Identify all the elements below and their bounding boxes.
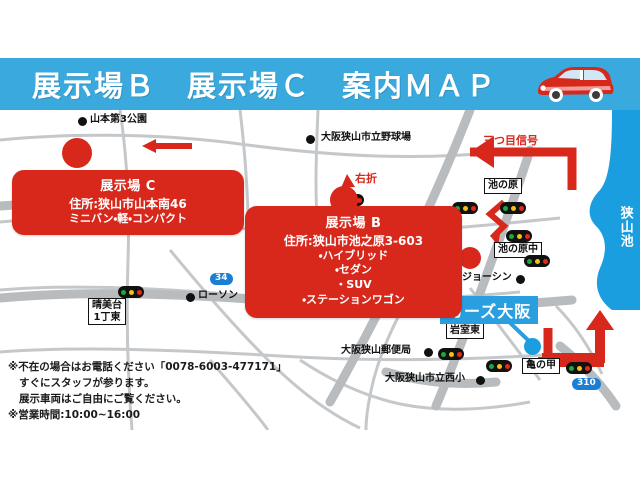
annotation-turn-right: 右折 (355, 170, 377, 186)
page-title: 展示場Ｂ 展示場Ｃ 案内ＭＡＰ (32, 63, 497, 105)
traffic-signal-icon (438, 348, 464, 360)
footnote-line: すぐにスタッフが参ります。 (8, 376, 338, 392)
footnote-line: 展示車両はご自由にご覧ください。 (8, 392, 338, 408)
intersection-label-harumidai: 晴美台1丁東 (88, 298, 126, 325)
route-arrow-west (142, 139, 192, 153)
showroom-b-item: ・SUV (251, 278, 456, 293)
showroom-b-address: 住所:狭山市池之原3-603 (251, 233, 456, 249)
showroom-c-marker (62, 138, 92, 168)
traffic-signal-icon (566, 362, 592, 374)
intersection-label-iwamuro-higashi: 岩室東 (446, 323, 484, 339)
dealer-location-dot (524, 338, 541, 355)
red-car-icon (532, 62, 618, 108)
showroom-b-callout: 展示場 B 住所:狭山市池之原3-603 ・ハイブリッド ・セダン ・SUV ・… (245, 206, 462, 318)
place-label-baseball-stadium: 大阪狭山市立野球場 (321, 133, 411, 144)
place-label-lawson: ローソン (198, 291, 238, 302)
traffic-signal-icon (118, 286, 144, 298)
showroom-c-address: 住所:狭山市山本南46 (18, 196, 238, 212)
traffic-signal-icon (524, 255, 550, 267)
place-label-post-office: 大阪狭山郵便局 (341, 346, 411, 357)
place-label-yamamoto-park: 山本第3公園 (90, 115, 147, 126)
place-label-joshin: ジョーシン (462, 273, 512, 284)
place-label-nishi-elementary: 大阪狭山市立西小 (385, 374, 465, 385)
showroom-c-item: ミニバン・軽・コンパクト (18, 212, 238, 227)
header-band: 展示場Ｂ 展示場Ｃ 案内ＭＡＰ (0, 58, 640, 110)
route-shield-310: 310 (572, 378, 601, 390)
annotation-third-signal: 三つ目信号 (483, 132, 538, 148)
map-flyer: 展示場Ｂ 展示場Ｃ 案内ＭＡＰ (0, 0, 640, 480)
marker-dot (516, 275, 525, 284)
traffic-signal-icon (500, 202, 526, 214)
footnote-line: ※営業時間:10:00~16:00 (8, 408, 338, 424)
showroom-b-title: 展示場 B (251, 215, 456, 233)
traffic-signal-icon (506, 230, 532, 242)
marker-dot (424, 348, 433, 357)
showroom-b-item: ・ハイブリッド (251, 249, 456, 264)
intersection-label-ikenohara: 池の原 (484, 178, 522, 194)
marker-dot (186, 293, 195, 302)
showroom-b-item: ・ステーションワゴン (251, 293, 456, 308)
showroom-c-callout: 展示場 C 住所:狭山市山本南46 ミニバン・軽・コンパクト (12, 170, 244, 235)
traffic-signal-icon (486, 360, 512, 372)
showroom-b-item: ・セダン (251, 263, 456, 278)
footnote-line: ※不在の場合はお電話ください「0078-6003-477171」 (8, 360, 338, 376)
footnote-block: ※不在の場合はお電話ください「0078-6003-477171」 すぐにスタッフ… (8, 360, 338, 424)
pond-label: 狭山池 (618, 206, 632, 248)
marker-dot (476, 376, 485, 385)
showroom-c-title: 展示場 C (18, 178, 238, 196)
intersection-label-kamenoko: 亀の甲 (522, 358, 560, 374)
route-shield-34: 34 (210, 273, 233, 285)
marker-dot (306, 135, 315, 144)
route-arrow-up (586, 310, 614, 330)
marker-dot (78, 117, 87, 126)
